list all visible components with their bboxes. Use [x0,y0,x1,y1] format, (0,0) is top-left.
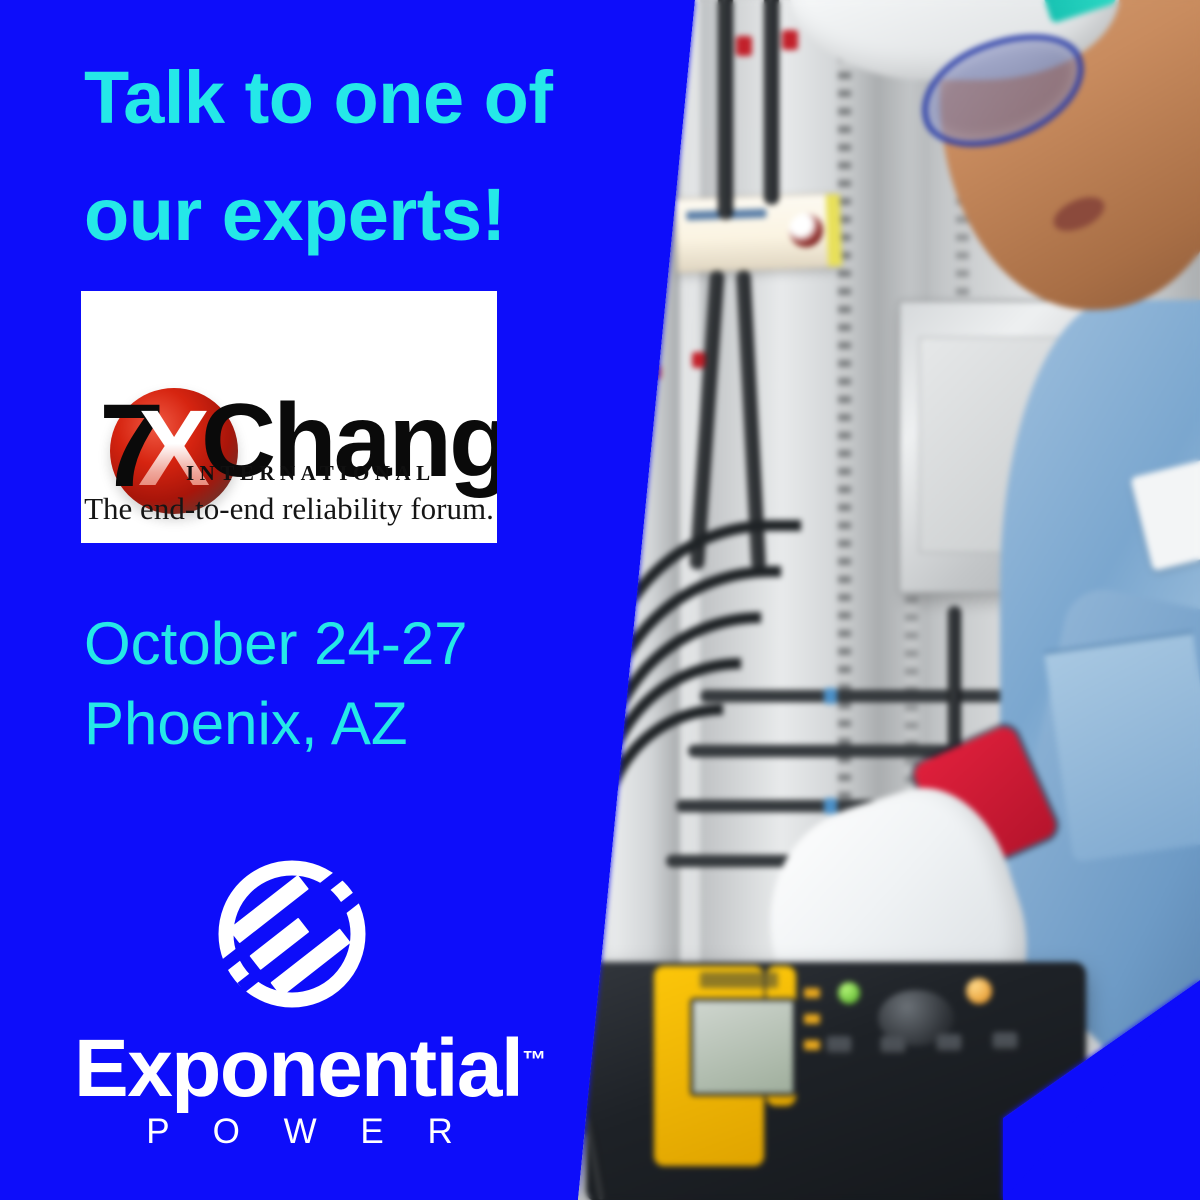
cable-clip-red-2 [782,30,798,50]
headline-line-2: our experts! [84,157,644,274]
headline-line-1: Talk to one of [84,40,644,157]
meter-indicator-3 [804,1040,820,1050]
event-dates: October 24-27 [84,604,604,684]
logo-international: INTERNATIONAL [186,461,436,486]
cable-clip-red-4 [650,365,661,379]
exponential-power-logo-mark [205,855,380,1013]
trademark-symbol: ™ [522,1047,546,1074]
meter-button-1 [826,1036,852,1054]
meter-button-3 [936,1034,962,1052]
event-details: October 24-27 Phoenix, AZ [84,604,604,764]
meter-led-orange [966,978,992,1004]
display-digits [700,972,778,988]
conduit-vertical-1 [718,0,733,220]
label-bar-2 [728,209,766,219]
brand-name: Exponential [74,1023,522,1114]
brand-wordmark: Exponential™ [74,1022,544,1116]
conduit-vertical-2 [764,0,779,205]
label-bar-1 [686,210,720,220]
meter-led-green [838,982,860,1004]
cable-horizontal-1 [700,690,1030,702]
cable-clip-red-1 [736,36,752,56]
headline: Talk to one of our experts! [84,40,644,274]
meter-button-4 [992,1032,1018,1050]
cable-clip-blue-1 [824,688,837,704]
test-meter-display [690,998,796,1096]
event-location: Phoenix, AZ [84,684,604,764]
cable-clip-blue-2 [824,798,837,814]
meter-indicator-1 [804,988,820,998]
promo-graphic-canvas: Talk to one of our experts! 24 7 X Chang… [0,0,1200,1200]
cable-clip-red-3 [692,352,705,368]
panel-warning-label [675,193,839,273]
meter-indicator-2 [804,1014,820,1024]
label-yellow-tab [826,194,843,266]
event-logo-card: 24 7 X Change INTERNATIONAL The end-to-e… [81,291,497,543]
logo-tagline: The end-to-end reliability forum. [81,491,497,527]
meter-button-2 [880,1036,906,1054]
brand-subtitle: P O W E R [78,1112,538,1152]
label-indicator [788,213,823,248]
